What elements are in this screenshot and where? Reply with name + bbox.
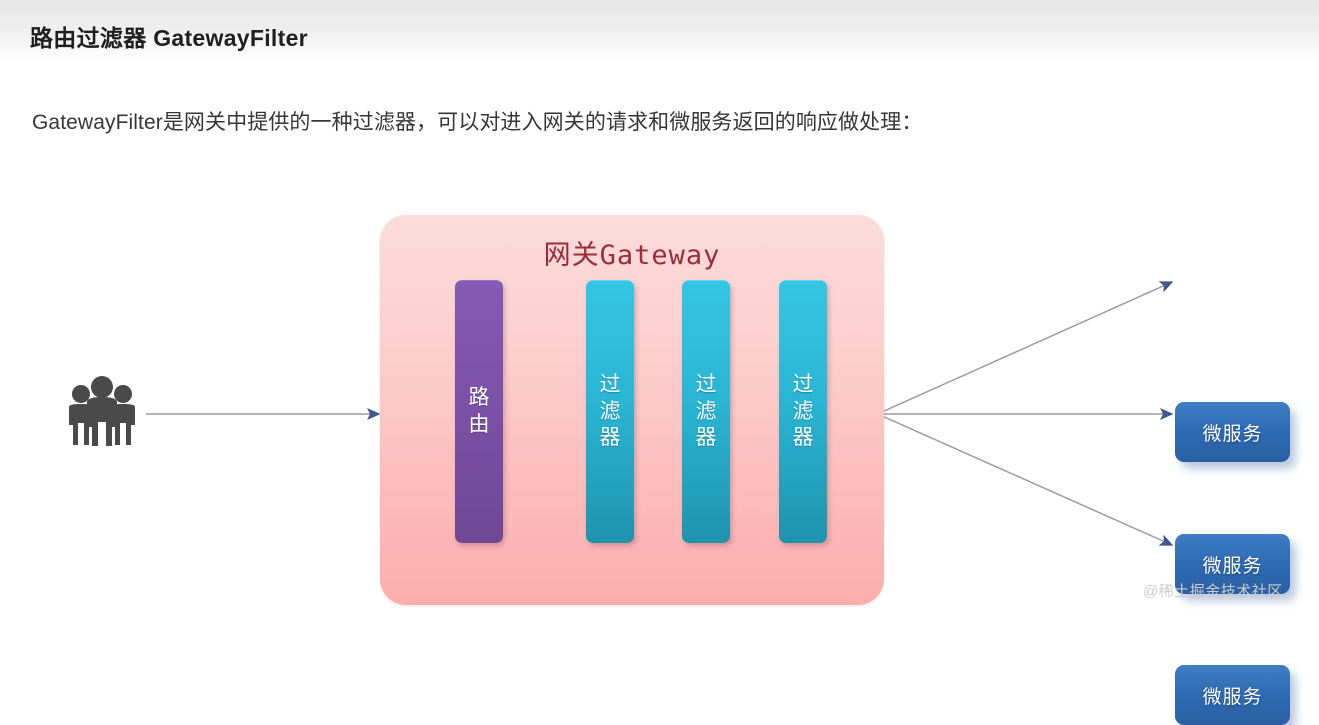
microservice-box-1-label: 微服务 xyxy=(1202,419,1262,446)
page-title: 路由过滤器 GatewayFilter xyxy=(30,19,308,53)
arrow-hub-to-microservice-1 xyxy=(882,282,1172,412)
filter-bar-3[interactable]: 过滤器 xyxy=(779,280,827,543)
watermark: @稀土掘金技术社区 xyxy=(1143,580,1283,601)
microservice-box-3[interactable]: 微服务 xyxy=(1175,665,1290,725)
microservice-box-1[interactable]: 微服务 xyxy=(1175,402,1290,462)
filter-bar-2-label: 过滤器 xyxy=(695,372,717,453)
microservice-box-2-label: 微服务 xyxy=(1202,551,1262,578)
gateway-filter-diagram: 网关Gateway 路由 过滤器 过滤器 过滤器 微服务 微服务 微服务 @稀土… xyxy=(0,150,1319,629)
users-group-icon xyxy=(64,375,140,447)
filter-bar-1-label: 过滤器 xyxy=(599,372,621,453)
intro-paragraph: GatewayFilter是网关中提供的一种过滤器，可以对进入网关的请求和微服务… xyxy=(32,106,922,136)
microservice-box-3-label: 微服务 xyxy=(1202,682,1262,709)
gateway-title: 网关Gateway xyxy=(380,233,884,272)
filter-bar-2[interactable]: 过滤器 xyxy=(682,280,730,543)
filter-bar-3-label: 过滤器 xyxy=(792,372,814,453)
filter-bar-1[interactable]: 过滤器 xyxy=(586,280,634,543)
arrow-hub-to-microservice-3 xyxy=(882,416,1172,545)
route-bar-label: 路由 xyxy=(468,385,490,439)
route-bar[interactable]: 路由 xyxy=(455,280,503,543)
